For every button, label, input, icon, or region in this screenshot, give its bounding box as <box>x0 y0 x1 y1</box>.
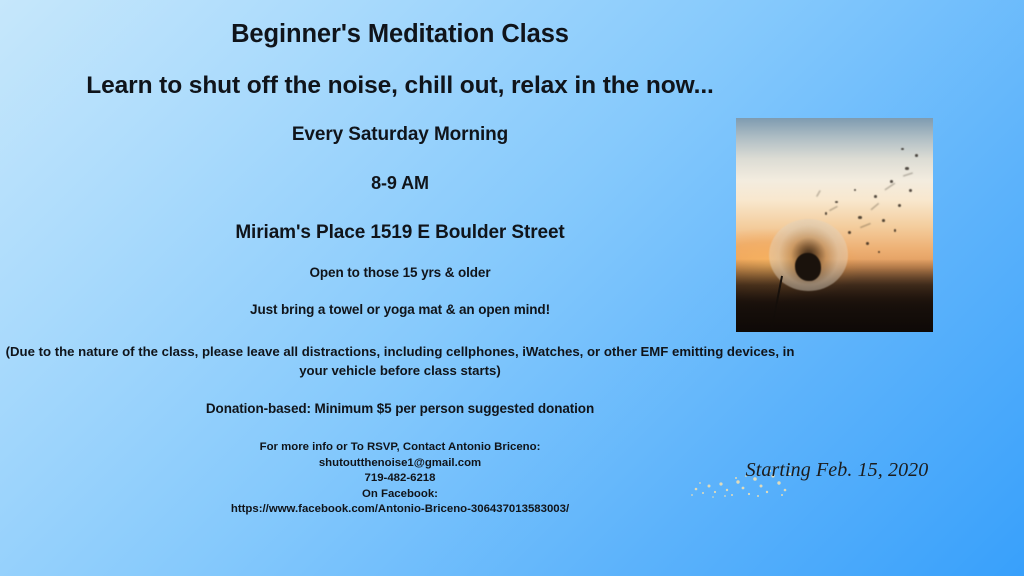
seed-icon <box>858 216 862 219</box>
venue-address: Miriam's Place 1519 E Boulder Street <box>0 222 800 244</box>
start-date-text: Starting Feb. 15, 2020 <box>680 432 980 508</box>
what-to-bring: Just bring a towel or yoga mat & an open… <box>0 302 800 317</box>
seed-icon <box>901 148 904 150</box>
seed-wisp-icon <box>829 206 838 211</box>
seed-icon <box>915 154 918 157</box>
seed-icon <box>878 251 881 254</box>
seed-icon <box>866 242 869 245</box>
dandelion-core <box>795 253 821 281</box>
device-policy-notice: (Due to the nature of the class, please … <box>0 342 800 380</box>
seed-icon <box>898 204 901 207</box>
subtitle: Learn to shut off the noise, chill out, … <box>0 72 800 100</box>
page-title: Beginner's Meditation Class <box>0 20 800 49</box>
seed-icon <box>835 201 838 203</box>
seed-icon <box>894 229 897 232</box>
age-requirement: Open to those 15 yrs & older <box>0 265 800 280</box>
seed-icon <box>909 189 912 192</box>
schedule-time: 8-9 AM <box>0 173 800 194</box>
seed-icon <box>882 219 886 222</box>
seed-icon <box>825 212 828 215</box>
seed-icon <box>874 195 877 198</box>
seed-wisp-icon <box>871 203 880 210</box>
seed-icon <box>905 167 909 170</box>
seed-wisp-icon <box>860 223 871 228</box>
donation-info: Donation-based: Minimum $5 per person su… <box>0 401 800 416</box>
seed-icon <box>890 180 893 183</box>
meditation-class-flyer: Beginner's Meditation Class Learn to shu… <box>0 0 1024 576</box>
seed-wisp-icon <box>816 190 821 197</box>
seed-wisp-icon <box>884 183 895 191</box>
seed-wisp-icon <box>903 172 913 176</box>
seed-icon <box>854 189 856 191</box>
dandelion-sunset-photo <box>736 118 933 332</box>
start-date-badge: Starting Feb. 15, 2020 <box>680 432 980 508</box>
schedule-day: Every Saturday Morning <box>0 124 800 146</box>
